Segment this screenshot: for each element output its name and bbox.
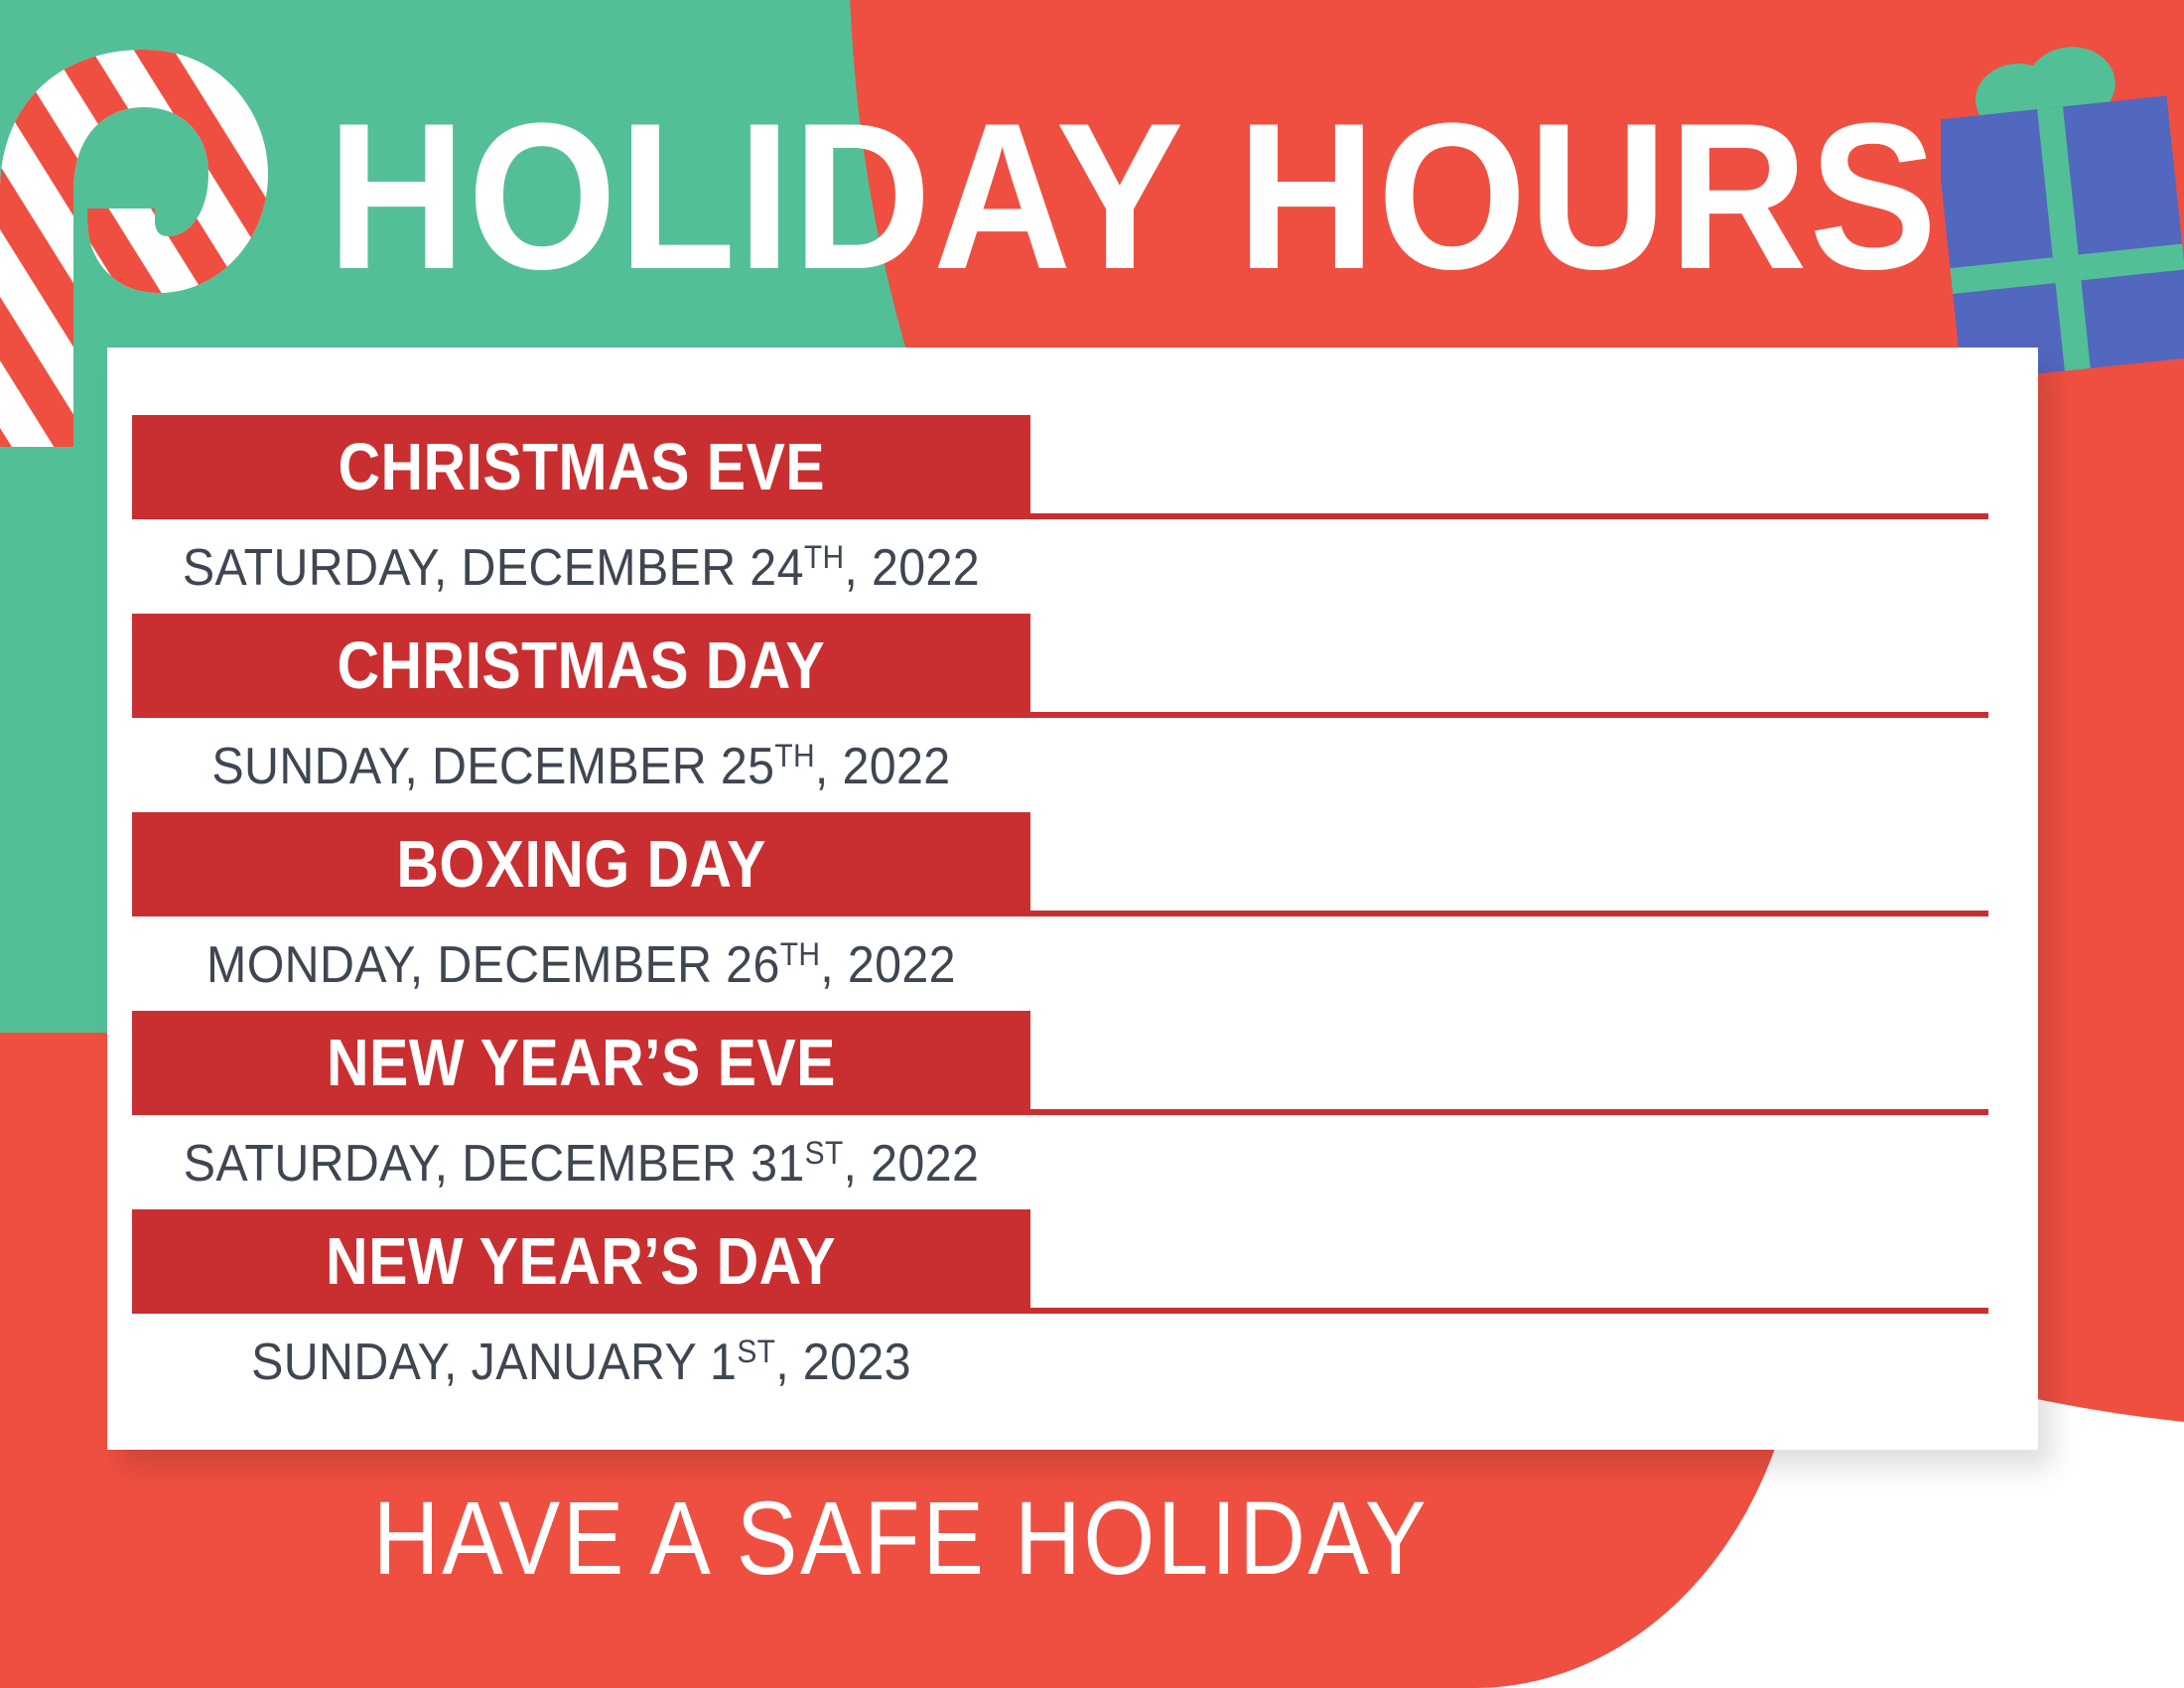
holiday-date: SUNDAY, DECEMBER 25TH, 2022 xyxy=(164,725,1000,797)
holiday-date-ordinal: ST xyxy=(805,1135,844,1171)
holiday-date: SATURDAY, DECEMBER 31ST, 2022 xyxy=(164,1122,1000,1195)
holiday-date-ordinal: TH xyxy=(774,738,815,774)
holiday-label-bar: CHRISTMAS EVE xyxy=(132,415,1030,519)
holiday-date-suffix: , 2022 xyxy=(820,936,956,994)
holiday-date-suffix: , 2022 xyxy=(815,738,951,795)
holiday-date-ordinal: TH xyxy=(780,936,821,972)
holiday-date: SATURDAY, DECEMBER 24TH, 2022 xyxy=(164,526,1000,599)
table-row: BOXING DAY MONDAY, DECEMBER 26TH, 2022 xyxy=(107,812,2038,1011)
holiday-name: NEW YEAR’S DAY xyxy=(326,1227,836,1297)
hours-rule xyxy=(1030,513,1988,519)
hours-rule xyxy=(1030,1308,1988,1314)
holiday-date-prefix: SATURDAY, DECEMBER 24 xyxy=(183,539,804,597)
holiday-date-suffix: , 2022 xyxy=(844,1135,980,1193)
table-row: NEW YEAR’S EVE SATURDAY, DECEMBER 31ST, … xyxy=(107,1011,2038,1209)
table-row: CHRISTMAS EVE SATURDAY, DECEMBER 24TH, 2… xyxy=(107,415,2038,614)
holiday-date-ordinal: TH xyxy=(804,539,845,575)
holiday-name: CHRISTMAS DAY xyxy=(338,632,826,701)
holiday-date-prefix: SUNDAY, JANUARY 1 xyxy=(251,1334,737,1391)
holiday-name: NEW YEAR’S EVE xyxy=(327,1029,836,1098)
hours-rule xyxy=(1030,1109,1988,1115)
holiday-label-bar: NEW YEAR’S DAY xyxy=(132,1209,1030,1314)
schedule-rows: CHRISTMAS EVE SATURDAY, DECEMBER 24TH, 2… xyxy=(107,348,2038,1408)
holiday-date: MONDAY, DECEMBER 26TH, 2022 xyxy=(164,923,1000,996)
holiday-date-ordinal: ST xyxy=(737,1334,775,1369)
table-row: CHRISTMAS DAY SUNDAY, DECEMBER 25TH, 202… xyxy=(107,614,2038,812)
holiday-name: CHRISTMAS EVE xyxy=(338,433,825,502)
page-title: HOLIDAY HOURS xyxy=(87,89,2097,303)
hours-rule xyxy=(1030,911,1988,916)
holiday-date-prefix: SUNDAY, DECEMBER 25 xyxy=(211,738,774,795)
holiday-date-prefix: SATURDAY, DECEMBER 31 xyxy=(184,1135,805,1193)
holiday-label-bar: CHRISTMAS DAY xyxy=(132,614,1030,718)
holiday-label-bar: BOXING DAY xyxy=(132,812,1030,916)
holiday-label-bar: NEW YEAR’S EVE xyxy=(132,1011,1030,1115)
table-row: NEW YEAR’S DAY SUNDAY, JANUARY 1ST, 2023 xyxy=(107,1209,2038,1408)
holiday-date-suffix: , 2023 xyxy=(775,1334,911,1391)
holiday-date-suffix: , 2022 xyxy=(844,539,980,597)
holiday-name: BOXING DAY xyxy=(396,830,765,900)
holiday-date-prefix: MONDAY, DECEMBER 26 xyxy=(206,936,780,994)
holiday-date: SUNDAY, JANUARY 1ST, 2023 xyxy=(164,1321,1000,1393)
hours-rule xyxy=(1030,712,1988,718)
holiday-hours-poster: HOLIDAY HOURS CHRISTMAS EVE SATURDAY, DE… xyxy=(0,0,2184,1688)
schedule-card: CHRISTMAS EVE SATURDAY, DECEMBER 24TH, 2… xyxy=(107,348,2038,1450)
footer-message: HAVE A SAFE HOLIDAY xyxy=(108,1484,1694,1594)
